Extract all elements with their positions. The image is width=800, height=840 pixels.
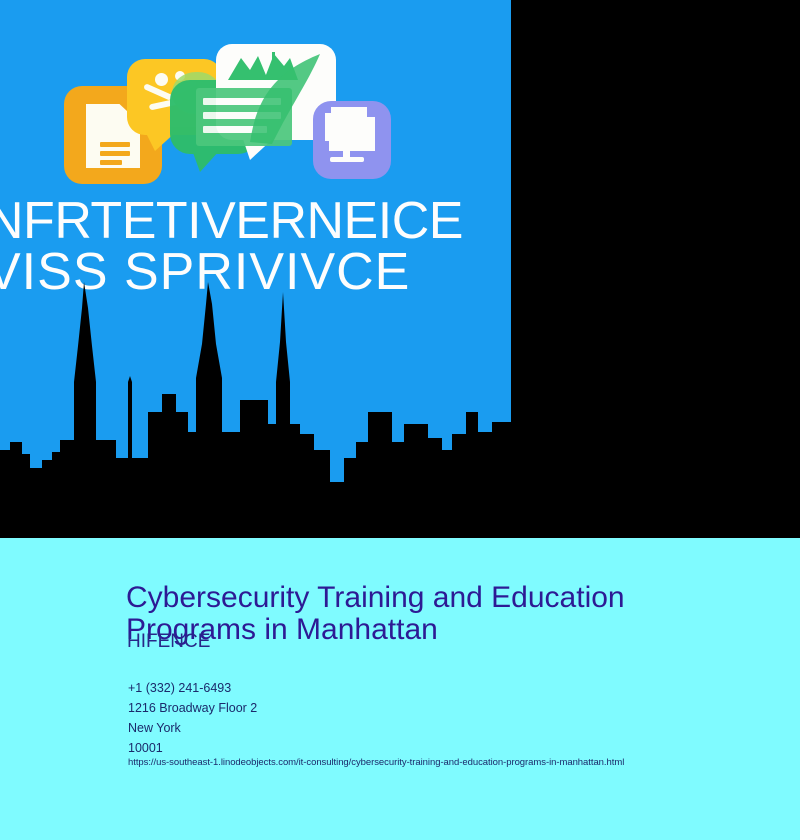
person-head-icon — [155, 73, 168, 86]
brand-name: HIFENCE — [127, 631, 210, 653]
source-url-link[interactable]: https://us-southeast-1.linodeobjects.com… — [128, 757, 624, 768]
contact-zip: 10001 — [128, 738, 257, 758]
monitor-inner-shape — [325, 113, 361, 141]
page-title: Cybersecurity Training and Education Pro… — [126, 582, 746, 646]
manhattan-skyline-silhouette — [0, 282, 511, 512]
artwork-headline-line1: NFRTETIVERNEICE — [0, 196, 511, 247]
info-panel: Cybersecurity Training and Education Pro… — [0, 538, 800, 840]
contact-block: +1 (332) 241-6493 1216 Broadway Floor 2 … — [128, 678, 257, 758]
illustration-cluster — [0, 0, 511, 200]
contact-phone: +1 (332) 241-6493 — [128, 678, 257, 698]
document-line — [100, 151, 130, 156]
monitor-card-icon — [313, 101, 391, 179]
contact-city: New York — [128, 718, 257, 738]
person-arm-icon — [143, 83, 173, 101]
hero-banner: NFRTETIVERNEICE VISS SPRIVIVCE — [0, 0, 800, 538]
hero-artwork: NFRTETIVERNEICE VISS SPRIVIVCE — [0, 0, 511, 512]
monitor-base-shape — [330, 157, 364, 162]
contact-street: 1216 Broadway Floor 2 — [128, 698, 257, 718]
document-line — [100, 142, 130, 147]
document-line — [100, 160, 122, 165]
